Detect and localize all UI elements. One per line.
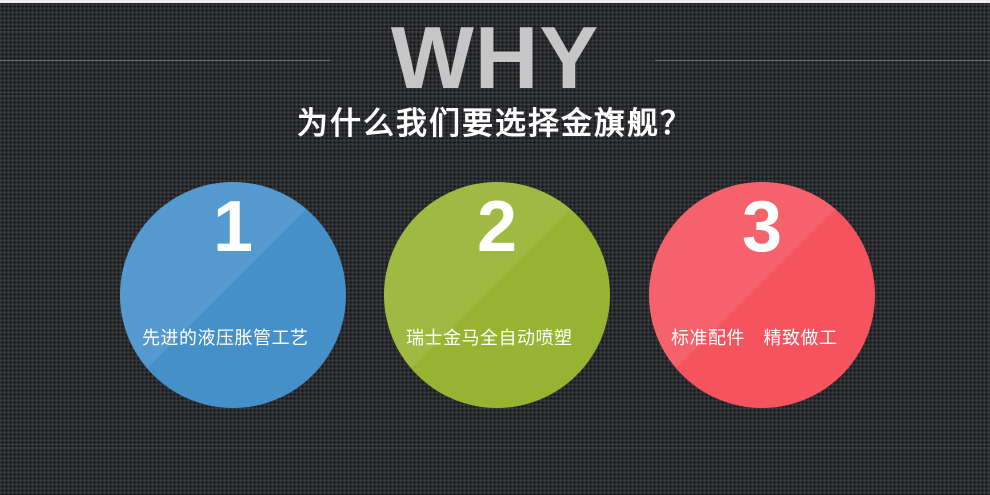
feature-circle-group: 1 先进的液压胀管工艺 铜铝复合双金属膨胀 超强复合无间隙 2 瑞士金马全自动喷… [0, 182, 990, 410]
circle-text-line: 标准配件 精致做工 [671, 324, 855, 352]
feature-circle-2: 2 瑞士金马全自动喷塑 设备 美国杜邦塑粉 光泽好 [384, 182, 610, 408]
circle-number-3: 3 [649, 188, 875, 266]
circle-text-line: 瑞士金马全自动喷塑 [406, 324, 590, 352]
circle-number-2: 2 [384, 188, 610, 266]
feature-circle-1: 1 先进的液压胀管工艺 铜铝复合双金属膨胀 超强复合无间隙 [120, 182, 346, 408]
feature-circle-3: 3 标准配件 精致做工 真正的精工值得您 的选择！ [649, 182, 875, 408]
page-title: WHY [0, 12, 990, 104]
circle-text-1: 先进的液压胀管工艺 铜铝复合双金属膨胀 超强复合无间隙 [142, 268, 326, 408]
why-banner: WHY 为什么我们要选择金旗舰？ 1 先进的液压胀管工艺 铜铝复合双金属膨胀 超… [0, 0, 990, 495]
circle-text-2: 瑞士金马全自动喷塑 设备 美国杜邦塑粉 光泽好 [406, 268, 590, 408]
page-subtitle: 为什么我们要选择金旗舰？ [0, 104, 990, 144]
circle-text-line: 先进的液压胀管工艺 [142, 324, 326, 352]
top-edge-strip [0, 0, 990, 3]
circle-text-3: 标准配件 精致做工 真正的精工值得您 的选择！ [671, 268, 855, 408]
background-band-bottom [0, 447, 990, 448]
circle-number-1: 1 [120, 188, 346, 266]
